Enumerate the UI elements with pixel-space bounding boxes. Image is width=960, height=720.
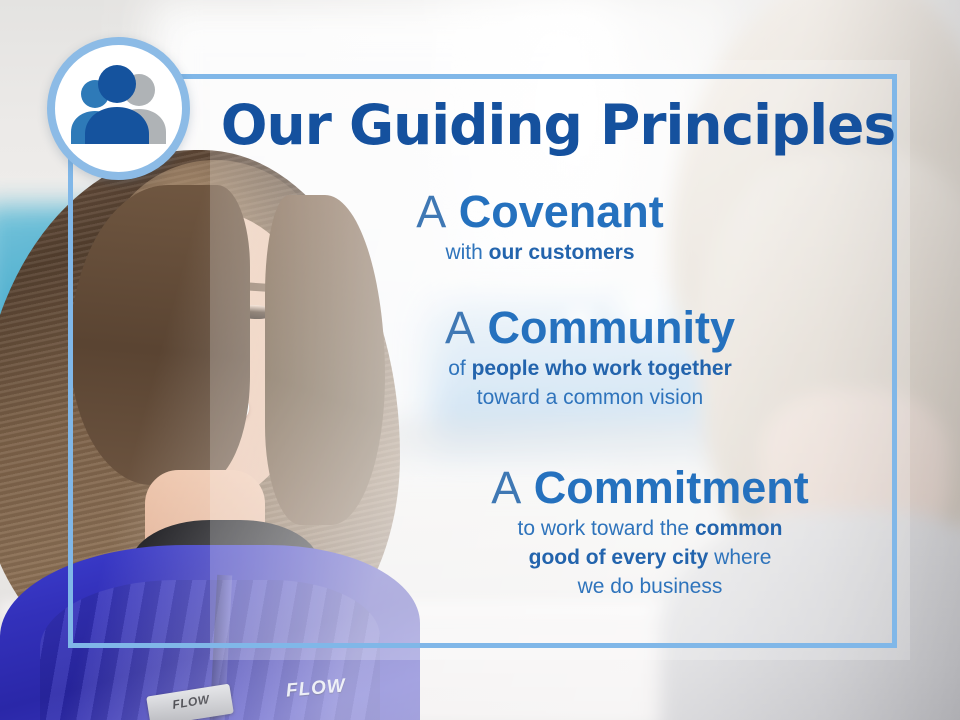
principle-word: Commitment <box>534 462 809 513</box>
subtext-line-2: toward a common vision <box>477 386 703 409</box>
principle-heading: A Covenant <box>300 186 780 238</box>
principle-subtext: with our customers <box>300 238 780 267</box>
principle-article: A <box>491 462 521 513</box>
subtext-part-bold: our customers <box>489 241 635 264</box>
principle-covenant: A Covenant with our customers <box>300 186 780 267</box>
page-title: Our Guiding Principles <box>213 95 903 155</box>
principle-subtext: to work toward the common good of every … <box>400 514 900 601</box>
principle-commitment: A Commitment to work toward the common g… <box>400 462 900 601</box>
subtext-part: with <box>445 241 488 264</box>
principle-heading: A Community <box>330 302 850 354</box>
principle-community: A Community of people who work together … <box>330 302 850 412</box>
guiding-principles-graphic: FLOW FLOW <box>0 0 960 720</box>
subtext-part-bold: people who work together <box>472 357 732 380</box>
principle-article: A <box>416 186 446 237</box>
principle-word: Covenant <box>459 186 664 237</box>
subtext-part: of <box>448 357 471 380</box>
principle-heading: A Commitment <box>400 462 900 514</box>
principle-subtext: of people who work together toward a com… <box>330 354 850 412</box>
subtext-part-bold-2: good of every city <box>529 546 709 569</box>
people-group-icon <box>47 37 190 180</box>
subtext-part-bold: common <box>695 517 783 540</box>
principle-article: A <box>445 302 475 353</box>
principle-word: Community <box>488 302 736 353</box>
subtext-line-3: we do business <box>578 575 723 598</box>
subtext-part-2: where <box>708 546 771 569</box>
subtext-part: to work toward the <box>518 517 695 540</box>
